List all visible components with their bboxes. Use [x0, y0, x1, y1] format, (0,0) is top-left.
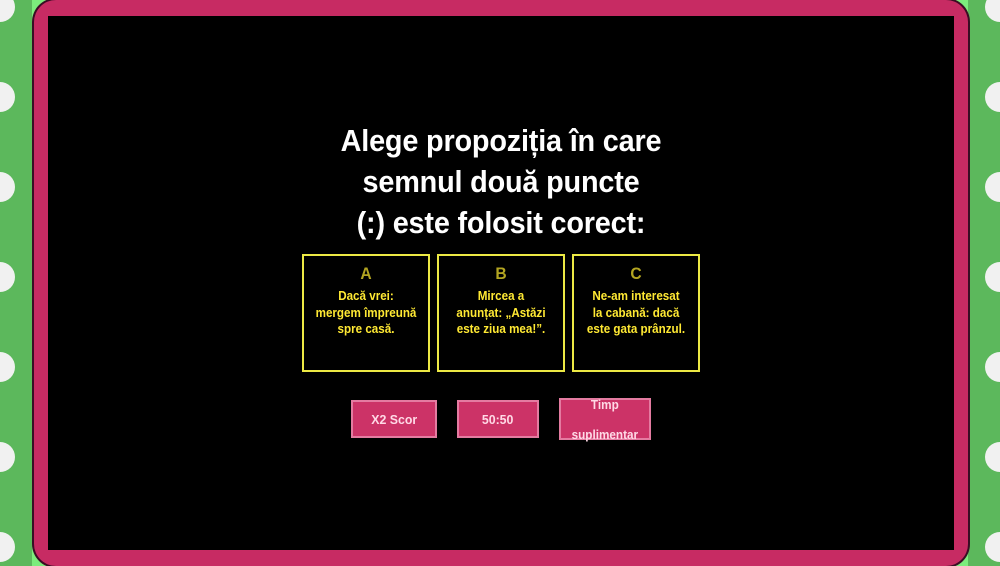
powerup-double-score-button[interactable]: X2 Scor: [351, 400, 437, 438]
powerup-fifty-fifty-button[interactable]: 50:50: [457, 400, 539, 438]
answer-option-b-letter: B: [449, 264, 552, 283]
quiz-frame: Alege propoziția în care semnul două pun…: [34, 0, 968, 566]
quiz-screen: Alege propoziția în care semnul două pun…: [48, 16, 954, 550]
decorative-dot: [985, 172, 1000, 202]
answer-option-b-line-1: Mircea a: [449, 288, 553, 305]
powerup-double-score-label: X2 Scor: [371, 412, 417, 427]
answer-option-b[interactable]: B Mircea a anunțat: „Astăzi este ziua me…: [437, 254, 565, 372]
answer-option-b-line-3: este ziua mea!”.: [449, 321, 553, 338]
powerup-extra-time-button[interactable]: Timp suplimentar: [559, 398, 651, 440]
decorative-dot: [0, 0, 15, 22]
quiz-stage: Alege propoziția în care semnul două pun…: [0, 0, 1000, 566]
decorative-dot: [985, 352, 1000, 382]
question-line-1: Alege propoziția în care: [80, 120, 923, 161]
decorative-dot: [985, 0, 1000, 22]
powerups-row: X2 Scor 50:50 Timp suplimentar: [48, 398, 954, 440]
question-line-2: semnul două puncte: [80, 161, 923, 202]
powerup-extra-time-line-2: suplimentar: [572, 427, 639, 442]
answer-option-a-line-3: spre casă.: [314, 321, 418, 338]
decorative-dot: [985, 262, 1000, 292]
powerup-extra-time-line-1: Timp: [572, 397, 639, 412]
decorative-dot: [0, 262, 15, 292]
decorative-dot-strip-left: [0, 0, 32, 566]
decorative-dot: [0, 172, 15, 202]
decorative-dot: [985, 532, 1000, 562]
decorative-dot: [0, 532, 15, 562]
answer-option-a[interactable]: A Dacă vrei: mergem împreună spre casă.: [302, 254, 430, 372]
decorative-dot: [0, 82, 15, 112]
powerup-extra-time-label: Timp suplimentar: [570, 397, 640, 442]
answer-option-c-letter: C: [584, 264, 687, 283]
decorative-dot: [0, 352, 15, 382]
answer-option-a-line-2: mergem împreună: [314, 305, 418, 322]
answer-option-c-line-2: la cabană: dacă: [584, 305, 688, 322]
answer-option-c[interactable]: C Ne-am interesat la cabană: dacă este g…: [572, 254, 700, 372]
answer-option-a-line-1: Dacă vrei:: [314, 288, 418, 305]
answer-option-a-letter: A: [314, 264, 417, 283]
question-title: Alege propoziția în care semnul două pun…: [80, 120, 923, 243]
decorative-dot: [985, 82, 1000, 112]
answer-option-c-line-1: Ne-am interesat: [584, 288, 688, 305]
decorative-dot: [985, 442, 1000, 472]
powerup-fifty-fifty-label: 50:50: [482, 412, 514, 427]
answer-options-row: A Dacă vrei: mergem împreună spre casă. …: [48, 254, 954, 372]
decorative-dot: [0, 442, 15, 472]
question-line-3: (:) este folosit corect:: [80, 202, 923, 243]
answer-option-b-line-2: anunțat: „Astăzi: [449, 305, 553, 322]
decorative-dot-strip-right: [968, 0, 1000, 566]
answer-option-c-line-3: este gata prânzul.: [584, 321, 688, 338]
